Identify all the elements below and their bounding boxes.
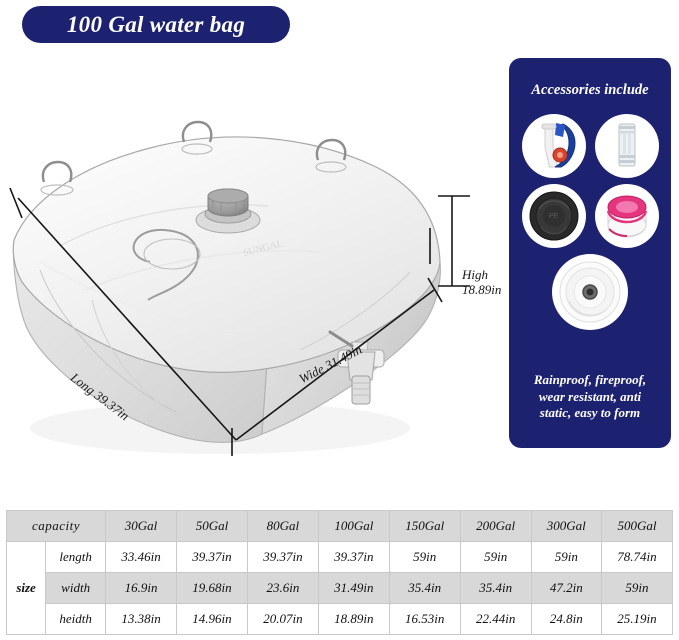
table-row: heidth 13.38in 14.96in 20.07in 18.89in 1… <box>7 604 673 635</box>
accessories-row <box>517 114 663 178</box>
caption-line-2: wear resistant, anti <box>517 389 663 406</box>
cell-heidth-3: 18.89in <box>318 604 389 635</box>
cell-length-3: 39.37in <box>318 542 389 573</box>
page-title-text: 100 Gal water bag <box>67 12 245 38</box>
table-row: width 16.9in 19.68in 23.6in 31.49in 35.4… <box>7 573 673 604</box>
size-label: size <box>7 542 46 635</box>
spec-table: capacity 30Gal 50Gal 80Gal 100Gal 150Gal… <box>6 510 673 635</box>
cell-heidth-7: 25.19in <box>601 604 672 635</box>
cell-length-1: 39.37in <box>177 542 248 573</box>
capacity-col-0: 30Gal <box>106 511 177 542</box>
cell-length-2: 39.37in <box>247 542 318 573</box>
ball-valve-tap-icon <box>522 114 586 178</box>
table-row: size length 33.46in 39.37in 39.37in 39.3… <box>7 542 673 573</box>
spec-table-wrapper: capacity 30Gal 50Gal 80Gal 100Gal 150Gal… <box>6 510 673 635</box>
product-infographic: 100 Gal water bag <box>0 0 679 640</box>
product-illustration: SUNGAL <box>0 50 500 490</box>
page-title: 100 Gal water bag <box>22 6 290 43</box>
accessories-grid: PE <box>517 114 663 336</box>
cell-width-1: 19.68in <box>177 573 248 604</box>
cell-length-5: 59in <box>460 542 531 573</box>
row-label-heidth: heidth <box>46 604 106 635</box>
caption-line-3: static, easy to form <box>517 405 663 422</box>
caption-line-1: Rainproof, fireproof, <box>517 372 663 389</box>
clear-tube-filter-icon <box>595 114 659 178</box>
accessories-caption: Rainproof, fireproof, wear resistant, an… <box>517 372 663 422</box>
capacity-col-5: 200Gal <box>460 511 531 542</box>
cell-length-0: 33.46in <box>106 542 177 573</box>
cell-length-4: 59in <box>389 542 460 573</box>
accessories-row <box>517 254 663 330</box>
cell-heidth-6: 24.8in <box>531 604 601 635</box>
cell-width-7: 59in <box>601 573 672 604</box>
cell-width-4: 35.4in <box>389 573 460 604</box>
cell-heidth-4: 16.53in <box>389 604 460 635</box>
cell-width-5: 35.4in <box>460 573 531 604</box>
capacity-col-2: 80Gal <box>247 511 318 542</box>
cell-heidth-0: 13.38in <box>106 604 177 635</box>
table-header-row: capacity 30Gal 50Gal 80Gal 100Gal 150Gal… <box>7 511 673 542</box>
svg-text:PE: PE <box>549 213 559 220</box>
capacity-col-3: 100Gal <box>318 511 389 542</box>
capacity-col-1: 50Gal <box>177 511 248 542</box>
cell-heidth-1: 14.96in <box>177 604 248 635</box>
accessories-panel: Accessories include <box>509 58 671 448</box>
capacity-header: capacity <box>7 511 106 542</box>
cell-width-2: 23.6in <box>247 573 318 604</box>
cell-width-0: 16.9in <box>106 573 177 604</box>
capacity-col-7: 500Gal <box>601 511 672 542</box>
capacity-col-4: 150Gal <box>389 511 460 542</box>
row-label-length: length <box>46 542 106 573</box>
capacity-col-6: 300Gal <box>531 511 601 542</box>
cell-heidth-5: 22.44in <box>460 604 531 635</box>
cell-length-6: 59in <box>531 542 601 573</box>
cell-width-3: 31.49in <box>318 573 389 604</box>
accessories-row: PE <box>517 184 663 248</box>
water-bag-drawing: SUNGAL <box>0 50 500 490</box>
accessories-heading: Accessories include <box>509 82 671 99</box>
cell-heidth-2: 20.07in <box>247 604 318 635</box>
row-label-width: width <box>46 573 106 604</box>
dimension-label-high: High 18.89in <box>462 268 501 298</box>
white-washer-cap-icon <box>552 254 628 330</box>
cell-length-7: 78.74in <box>601 542 672 573</box>
cell-width-6: 47.2in <box>531 573 601 604</box>
black-screw-cap-icon: PE <box>522 184 586 248</box>
ptfe-tape-roll-icon <box>595 184 659 248</box>
